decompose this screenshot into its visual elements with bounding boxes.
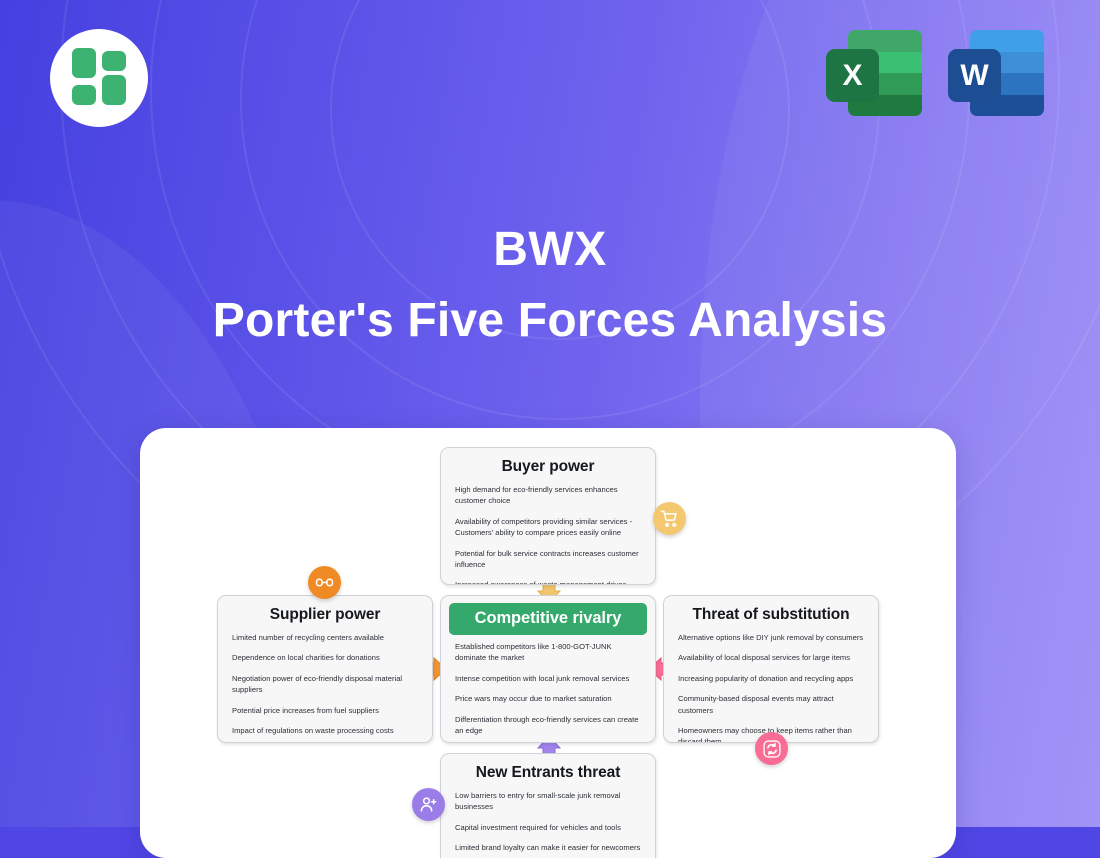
force-title: Buyer power: [441, 448, 655, 484]
add-user-icon: [412, 788, 445, 821]
logo-square: [102, 75, 126, 105]
force-point: Alternative options like DIY junk remova…: [678, 632, 864, 643]
force-point: Potential for bulk service contracts inc…: [455, 548, 641, 571]
force-title: Supplier power: [218, 596, 432, 632]
excel-letter: X: [826, 49, 879, 102]
force-point: Availability of local disposal services …: [678, 652, 864, 663]
page-title: Porter's Five Forces Analysis: [0, 293, 1100, 348]
force-box-buyer-power[interactable]: Buyer power High demand for eco-friendly…: [440, 447, 656, 585]
force-title: Competitive rivalry: [449, 603, 647, 635]
force-point: Limited number of recycling centers avai…: [232, 632, 418, 643]
force-box-competitive-rivalry[interactable]: Competitive rivalry Established competit…: [440, 595, 656, 743]
force-point: Dependence on local charities for donati…: [232, 652, 418, 663]
force-points: Established competitors like 1-800-GOT-J…: [441, 641, 655, 743]
force-points: Limited number of recycling centers avai…: [218, 632, 432, 743]
word-icon[interactable]: W: [948, 30, 1044, 118]
force-point: Increased awareness of waste management …: [455, 579, 641, 585]
force-point: Potential price increases from fuel supp…: [232, 705, 418, 716]
force-point: Availability of competitors providing si…: [455, 516, 641, 539]
force-point: Limited brand loyalty can make it easier…: [455, 842, 641, 853]
shopping-cart-icon: [653, 502, 686, 535]
logo-square: [72, 85, 96, 105]
grid-squares-logo-icon: [72, 51, 126, 105]
brand-logo: [50, 29, 148, 127]
porters-five-forces-diagram: Buyer power High demand for eco-friendly…: [140, 428, 956, 858]
logo-square: [102, 51, 126, 71]
force-box-supplier-power[interactable]: Supplier power Limited number of recycli…: [217, 595, 433, 743]
force-box-new-entrants-threat[interactable]: New Entrants threat Low barriers to entr…: [440, 753, 656, 858]
force-point: Differentiation through eco-friendly ser…: [455, 714, 641, 737]
title-block: BWX Porter's Five Forces Analysis: [0, 222, 1100, 348]
force-point: Impact of regulations on waste processin…: [232, 725, 418, 736]
force-points: Low barriers to entry for small-scale ju…: [441, 790, 655, 858]
force-point: Increasing popularity of donation and re…: [678, 673, 864, 684]
excel-icon[interactable]: X: [826, 30, 922, 118]
link-chain-icon: [308, 566, 341, 599]
diagram-card: Buyer power High demand for eco-friendly…: [140, 428, 956, 858]
force-point: Negotiation power of eco-friendly dispos…: [232, 673, 418, 696]
force-point: Intense competition with local junk remo…: [455, 673, 641, 684]
force-point: Low barriers to entry for small-scale ju…: [455, 790, 641, 813]
force-point: Capital investment required for vehicles…: [455, 822, 641, 833]
force-point: Price wars may occur due to market satur…: [455, 693, 641, 704]
word-letter: W: [948, 49, 1001, 102]
force-point: Community-based disposal events may attr…: [678, 693, 864, 716]
force-box-threat-of-substitution[interactable]: Threat of substitution Alternative optio…: [663, 595, 879, 743]
force-title: New Entrants threat: [441, 754, 655, 790]
force-points: Alternative options like DIY junk remova…: [664, 632, 878, 743]
force-title: Threat of substitution: [664, 596, 878, 632]
force-points: High demand for eco-friendly services en…: [441, 484, 655, 585]
force-point: High demand for eco-friendly services en…: [455, 484, 641, 507]
export-icons: X W: [826, 30, 1044, 118]
logo-square: [72, 48, 96, 78]
company-name: BWX: [0, 222, 1100, 277]
force-point: Established competitors like 1-800-GOT-J…: [455, 641, 641, 664]
refresh-sync-icon: [755, 732, 788, 765]
